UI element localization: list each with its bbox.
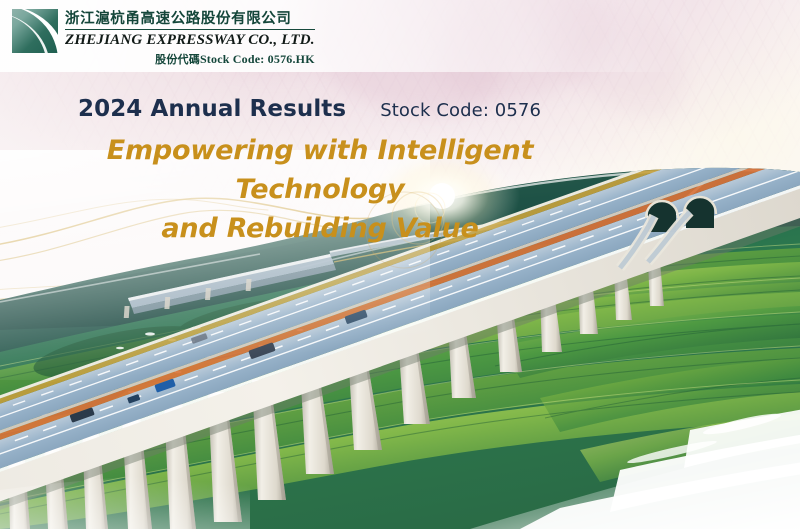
subtitle-line-1: Empowering with Intelligent Technology: [107, 135, 534, 205]
headline-row: 2024 Annual Results Stock Code: 0576: [78, 96, 541, 122]
company-logo: 浙江滬杭甬高速公路股份有限公司 ZHEJIANG EXPRESSWAY CO.,…: [12, 9, 315, 67]
page-title: 2024 Annual Results: [78, 96, 346, 122]
subtitle: Empowering with Intelligent Technology a…: [40, 131, 600, 248]
logo-divider: [65, 29, 315, 30]
expressway-swoosh-logo-icon: [12, 9, 58, 53]
subtitle-line-2: and Rebuilding Value: [40, 209, 600, 248]
headline-stock-code: Stock Code: 0576: [380, 100, 541, 121]
company-name-chinese: 浙江滬杭甬高速公路股份有限公司: [65, 10, 315, 28]
company-name-english: ZHEJIANG EXPRESSWAY CO., LTD.: [65, 32, 315, 49]
stock-code-label-english: Stock Code: 0576.HK: [200, 52, 315, 66]
scenery-illustration: [0, 0, 800, 529]
logo-stock-code-line: 股份代碼Stock Code: 0576.HK: [65, 52, 315, 67]
title-slide: 浙江滬杭甬高速公路股份有限公司 ZHEJIANG EXPRESSWAY CO.,…: [0, 0, 800, 529]
stock-code-label-chinese: 股份代碼: [155, 53, 200, 66]
